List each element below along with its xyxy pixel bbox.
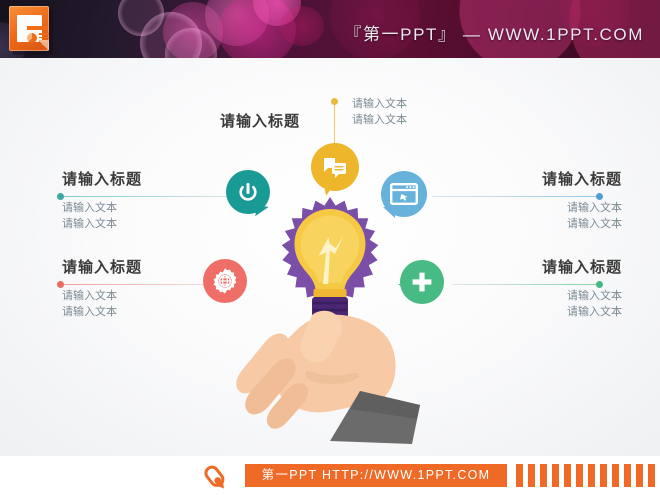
top-title: 请输入标题 <box>220 110 300 131</box>
footer-url-bar[interactable]: 第一PPT HTTP://WWW.1PPT.COM <box>245 464 507 487</box>
left-bottom-body: 请输入文本 请输入文本 <box>62 288 142 320</box>
left-top-body: 请输入文本 请输入文本 <box>62 200 142 232</box>
text-block-right-top[interactable]: 请输入标题 请输入文本 请输入文本 <box>542 168 622 232</box>
left-bottom-body-line1: 请输入文本 <box>62 288 142 304</box>
right-bottom-body: 请输入文本 请输入文本 <box>542 288 622 320</box>
right-top-body: 请输入文本 请输入文本 <box>542 200 622 232</box>
slide-canvas: 『第一PPT』 — WWW.1PPT.COM 请输入标题 请输入文本 请输入文本… <box>0 0 660 495</box>
left-top-title: 请输入标题 <box>62 168 142 189</box>
bokeh-circle <box>280 6 324 46</box>
right-bottom-body-line1: 请输入文本 <box>542 288 622 304</box>
right-bottom-body-line2: 请输入文本 <box>542 304 622 320</box>
text-block-left-bottom[interactable]: 请输入标题 请输入文本 请输入文本 <box>62 256 142 320</box>
powerpoint-document-icon <box>9 6 51 53</box>
text-block-right-bottom[interactable]: 请输入标题 请输入文本 请输入文本 <box>542 256 622 320</box>
left-bottom-body-line2: 请输入文本 <box>62 304 142 320</box>
footer-stripes <box>516 464 660 487</box>
header-title: 『第一PPT』 — WWW.1PPT.COM <box>344 20 644 45</box>
footer-url-text: 第一PPT HTTP://WWW.1PPT.COM <box>245 464 507 487</box>
footer-banner: 第一PPT HTTP://WWW.1PPT.COM <box>0 456 660 495</box>
hand-icon <box>236 285 426 450</box>
left-top-body-line1: 请输入文本 <box>62 200 142 216</box>
right-bottom-title: 请输入标题 <box>542 256 622 277</box>
connector-line-top <box>334 102 335 148</box>
right-top-body-line1: 请输入文本 <box>542 200 622 216</box>
top-body: 请输入文本 请输入文本 <box>352 96 407 128</box>
text-block-left-top[interactable]: 请输入标题 请输入文本 请输入文本 <box>62 168 142 232</box>
chat-bubble-icon <box>311 143 359 191</box>
connector-dot <box>331 98 338 105</box>
left-bottom-title: 请输入标题 <box>62 256 142 277</box>
left-top-body-line2: 请输入文本 <box>62 216 142 232</box>
top-body-line2: 请输入文本 <box>352 112 407 128</box>
pen-icon <box>201 461 235 491</box>
right-top-body-line2: 请输入文本 <box>542 216 622 232</box>
text-block-top-body[interactable]: 请输入文本 请输入文本 <box>352 96 407 128</box>
right-top-title: 请输入标题 <box>542 168 622 189</box>
top-body-line1: 请输入文本 <box>352 96 407 112</box>
power-icon <box>226 170 270 214</box>
header-banner: 『第一PPT』 — WWW.1PPT.COM <box>0 0 660 58</box>
text-block-top-title[interactable]: 请输入标题 <box>220 110 300 131</box>
